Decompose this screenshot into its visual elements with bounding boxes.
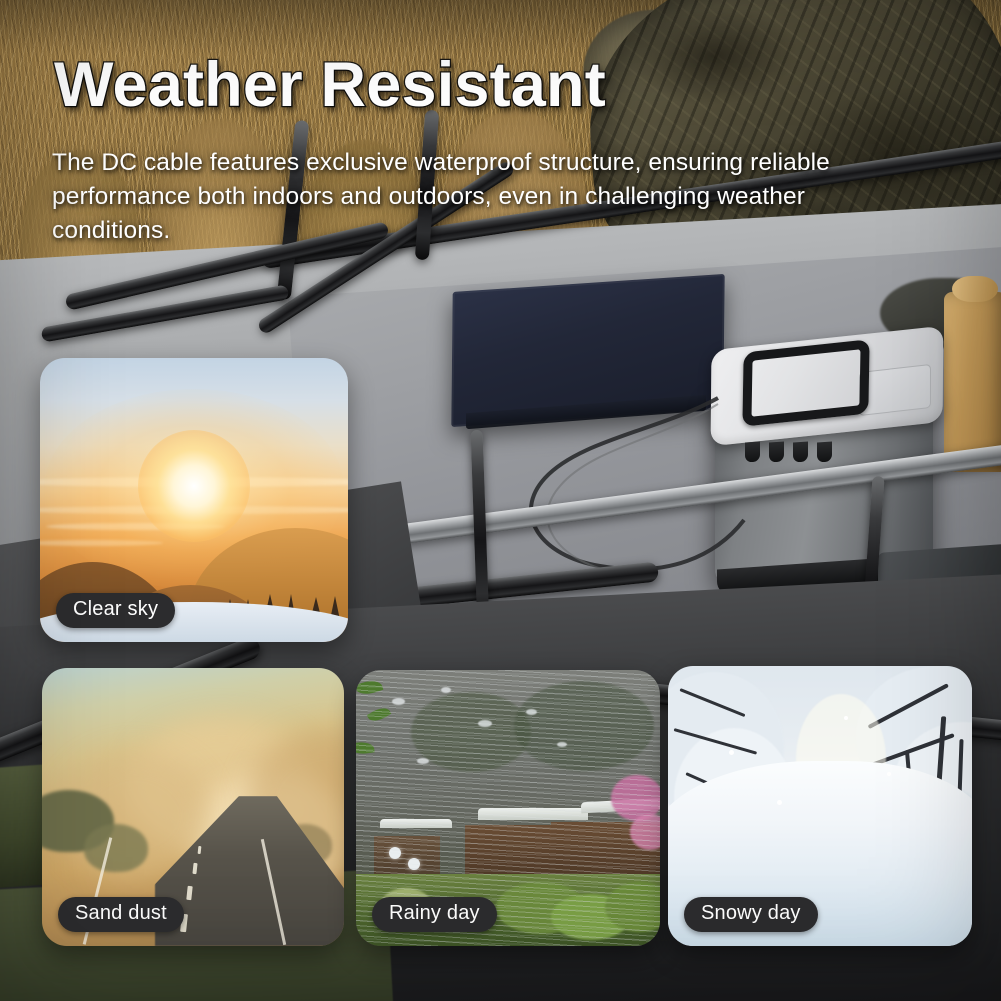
weather-card-label: Snowy day — [684, 897, 818, 932]
weather-card-clear-sky[interactable]: Clear sky — [40, 358, 348, 642]
weather-card-rainy-day[interactable]: Rainy day — [356, 670, 660, 946]
weather-card-label: Rainy day — [372, 897, 497, 932]
subtitle-description: The DC cable features exclusive waterpro… — [52, 146, 912, 247]
weather-card-sand-dust[interactable]: Sand dust — [42, 668, 344, 946]
page-title: Weather Resistant — [54, 52, 606, 118]
weather-card-label: Clear sky — [56, 593, 175, 628]
weather-card-snowy-day[interactable]: Snowy day — [668, 666, 972, 946]
product-marketing-banner: Weather Resistant The DC cable features … — [0, 0, 1001, 1001]
weather-card-label: Sand dust — [58, 897, 184, 932]
